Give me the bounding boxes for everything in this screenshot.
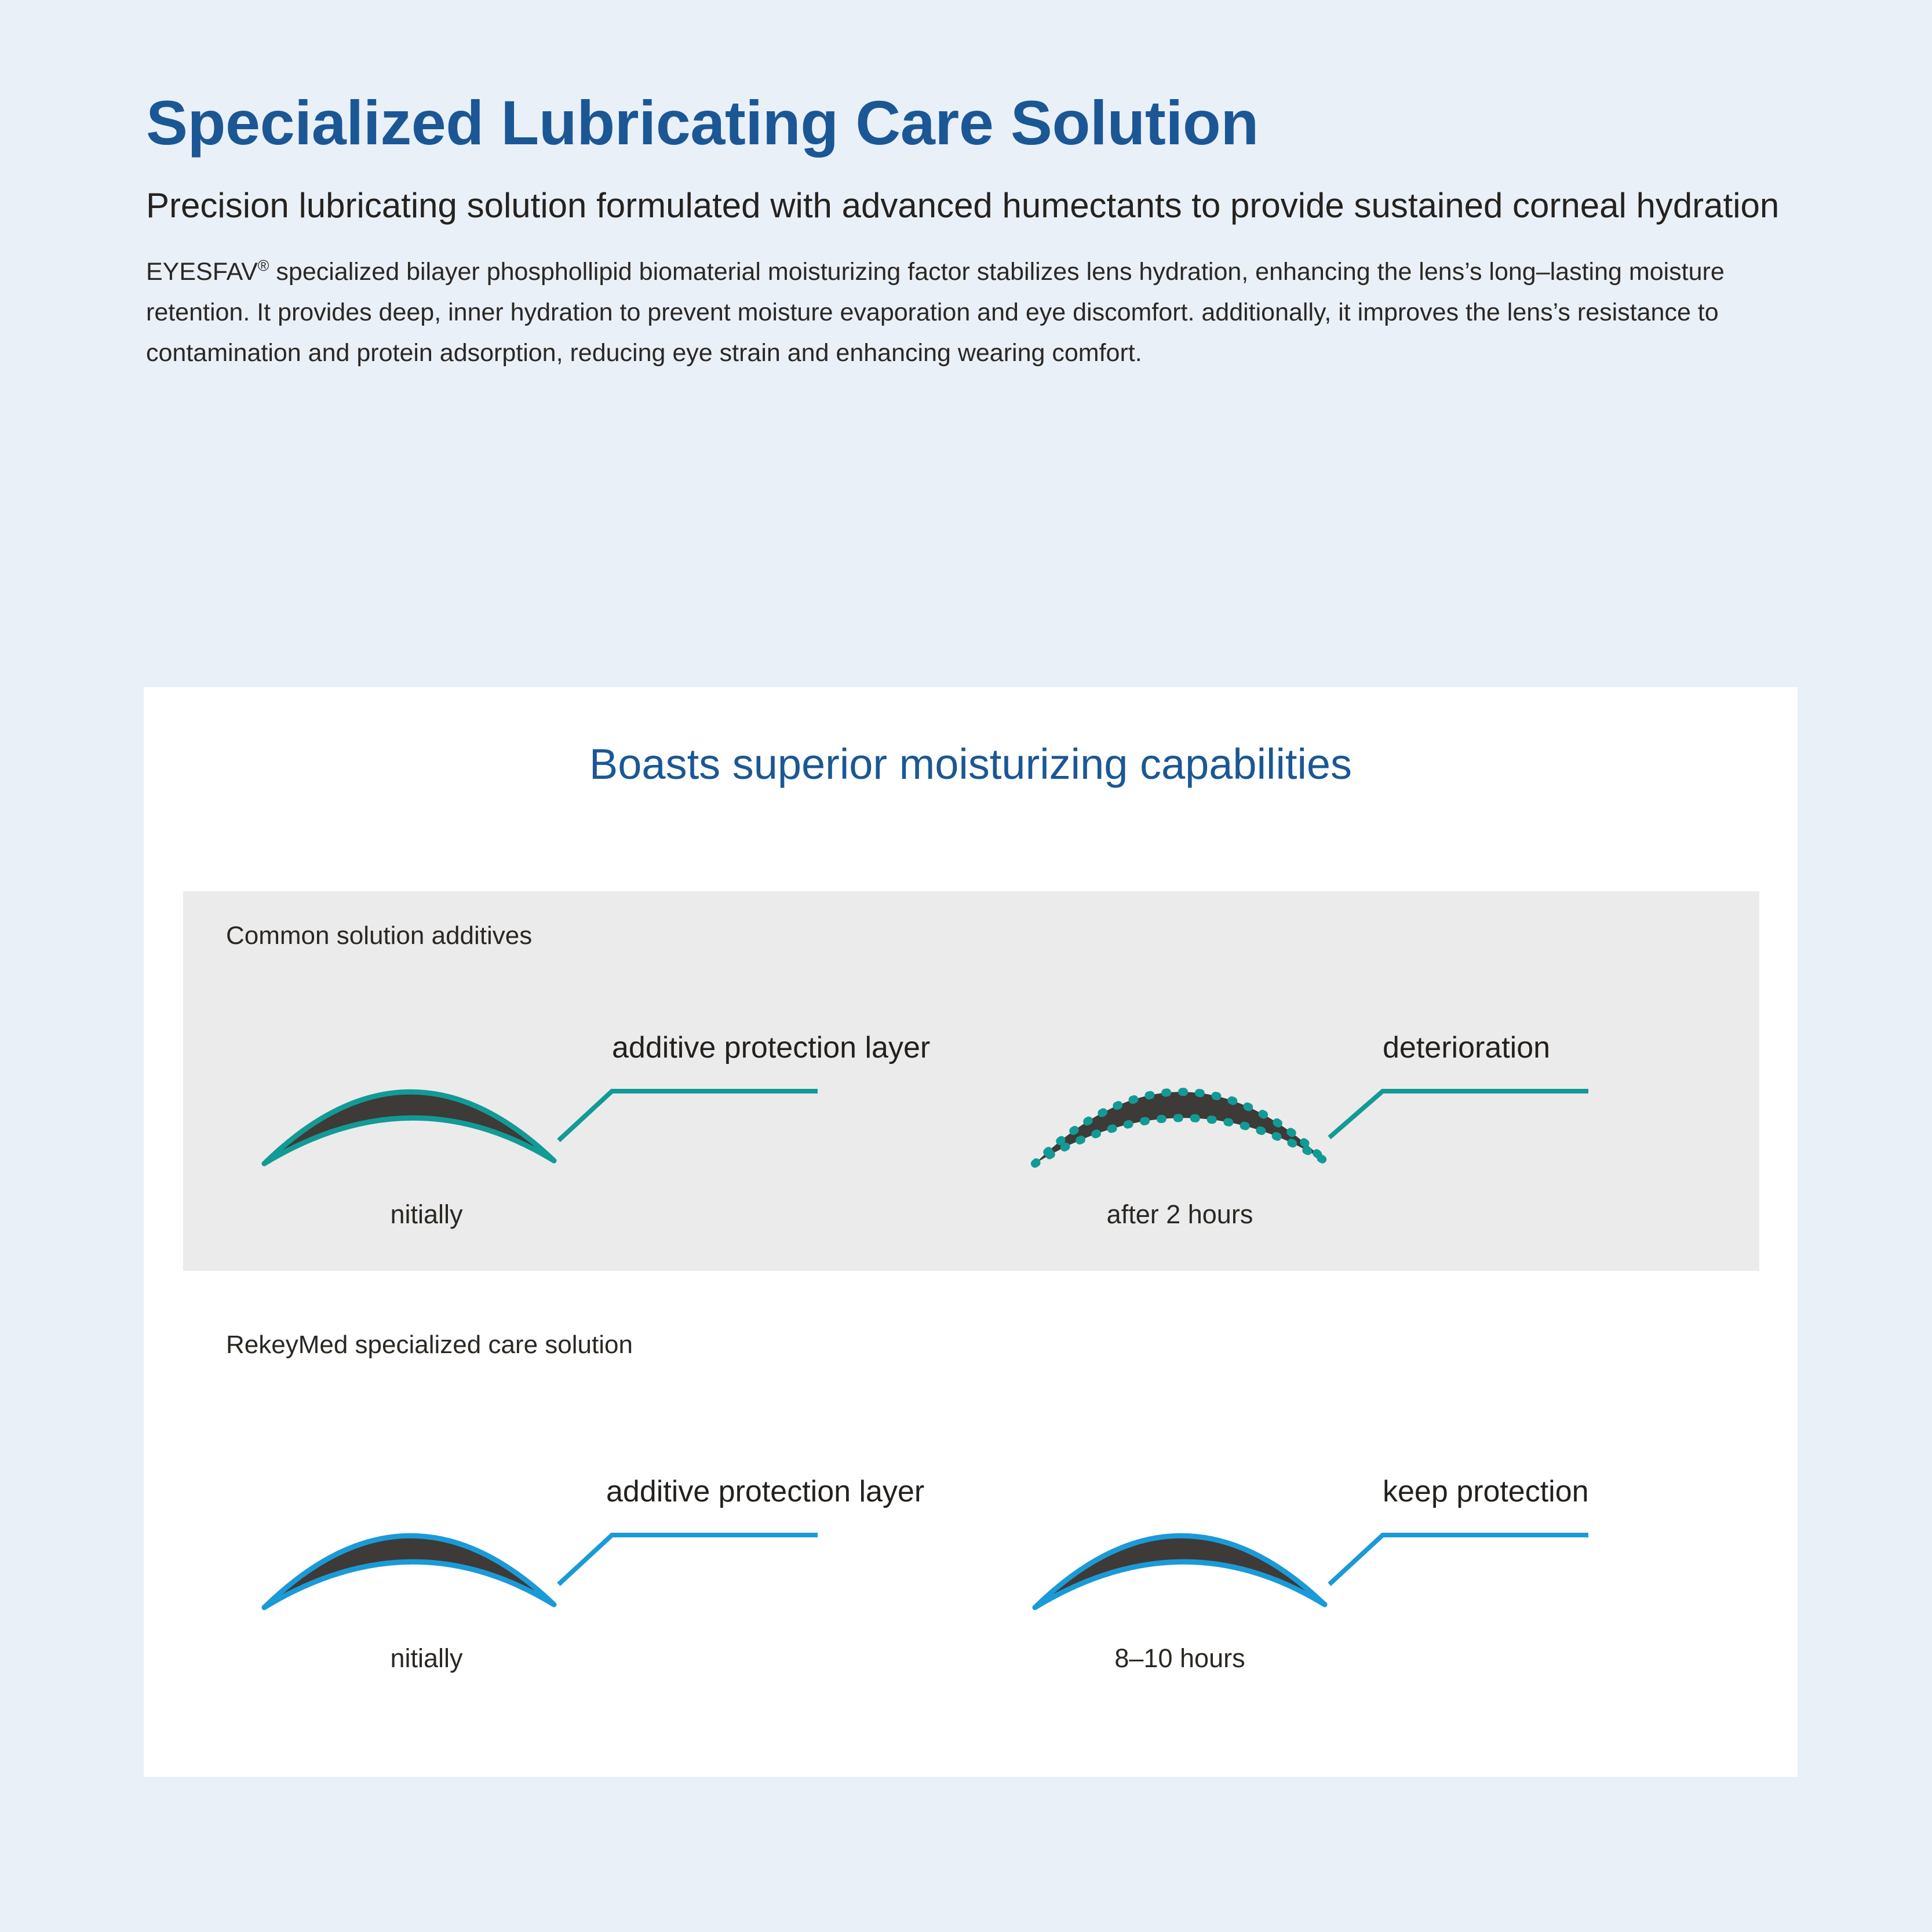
leader-line-icon [559,1091,818,1140]
caption-initially: nitially [241,1200,612,1230]
description-text: specialized bilayer phosphollipid biomat… [146,258,1725,367]
lead-label-keep-protection: keep protection [1383,1474,1589,1509]
leader-line-icon [1329,1091,1588,1138]
row-rekeymed-solution: RekeyMed specialized care solution addit… [183,1300,1759,1741]
row-label-rekeymed: RekeyMed specialized care solution [226,1330,633,1359]
panel-common-initial: additive protection layer nitially [206,972,977,1245]
panel-rekey-initial: additive protection layer nitially [206,1416,977,1689]
lead-label-additive-protection-layer: additive protection layer [612,1030,930,1065]
lead-label-deterioration: deterioration [1383,1030,1550,1065]
row-label-common: Common solution additives [226,921,532,950]
comparison-card: Boasts superior moisturizing capabilitie… [144,687,1798,1777]
lens-body-icon [1035,1536,1325,1607]
caption-initially: nitially [241,1643,612,1674]
header-block: Specialized Lubricating Care Solution Pr… [146,87,1809,374]
lead-label-additive-protection-layer: additive protection layer [606,1474,924,1509]
leader-line-icon [559,1535,818,1584]
row-common-additives: Common solution additives additive prote… [183,891,1759,1271]
lens-body-icon [264,1536,554,1607]
caption-8-10-hours: 8–10 hours [994,1643,1365,1674]
lens-body-icon [264,1092,554,1164]
leader-line-icon [1329,1535,1588,1584]
panel-common-after2h: deterioration after 2 hours [977,972,1748,1245]
registered-mark: ® [258,257,269,275]
page-description: EYESFAV® specialized bilayer phosphollip… [146,228,1809,373]
brand-name: EYESFAV [146,258,258,286]
caption-after-2-hours: after 2 hours [994,1200,1365,1230]
lens-body-icon [1035,1092,1325,1164]
panel-rekey-8to10h: keep protection 8–10 hours [977,1416,1748,1689]
infographic-page: Specialized Lubricating Care Solution Pr… [0,0,1932,1932]
card-title: Boasts superior moisturizing capabilitie… [144,739,1798,789]
page-subtitle: Precision lubricating solution formulate… [146,158,1803,228]
page-title: Specialized Lubricating Care Solution [146,87,1809,158]
